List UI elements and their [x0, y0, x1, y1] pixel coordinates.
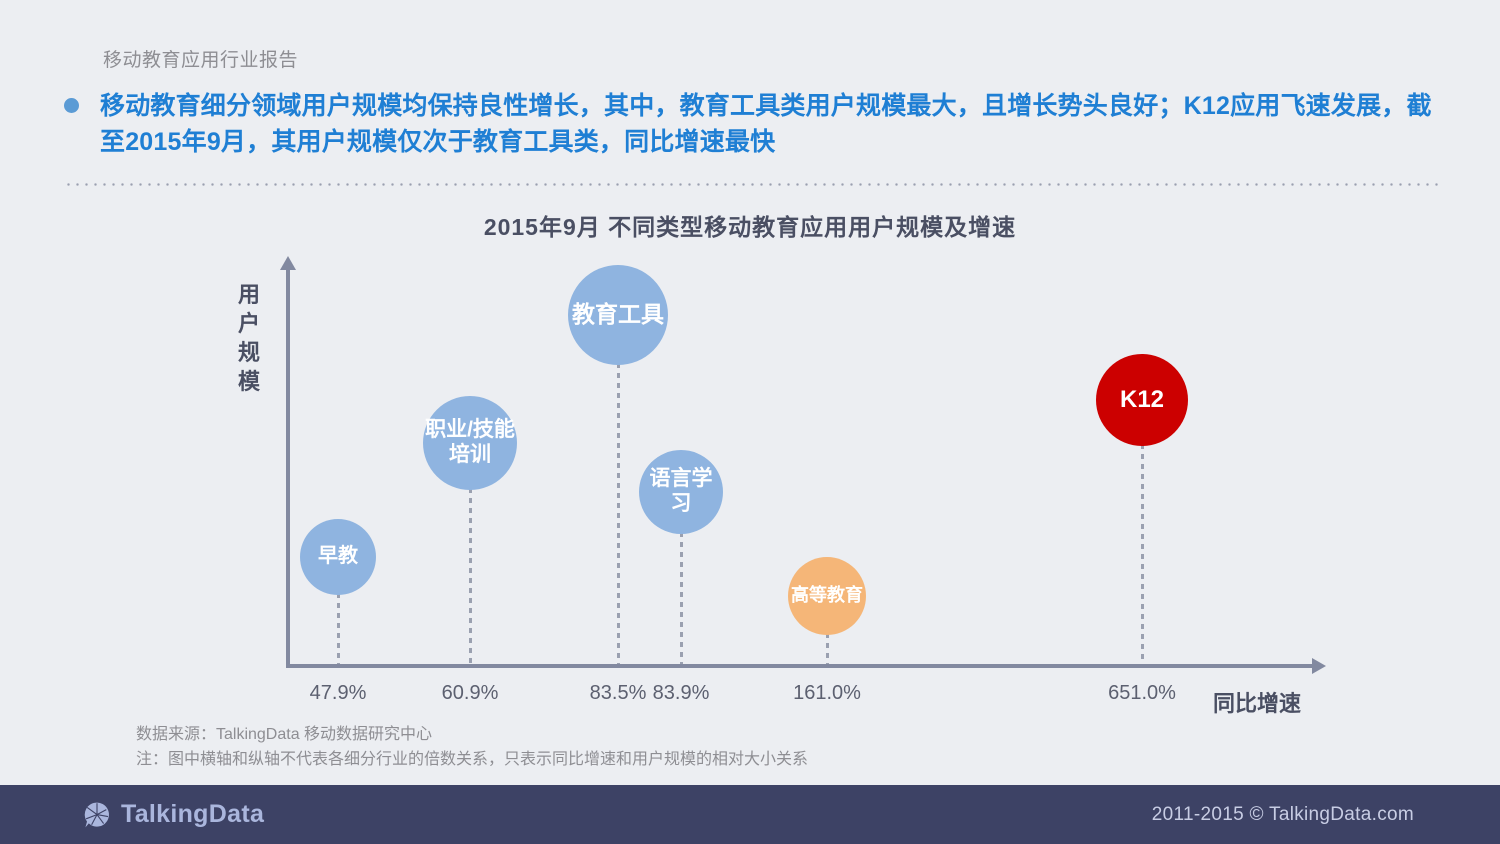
headline-row: 移动教育细分领域用户规模均保持良性增长，其中，教育工具类用户规模最大，且增长势头… — [64, 88, 1444, 161]
y-axis-line — [286, 268, 290, 666]
bubble-stem — [337, 593, 340, 664]
bubble-语言学习[interactable]: 语言学习 — [639, 450, 723, 534]
y-axis-label: 用 户 规 模 — [234, 280, 264, 396]
bubble-stem — [1141, 444, 1144, 664]
x-tick-label: 83.5% — [590, 682, 647, 705]
x-tick-label: 161.0% — [793, 682, 861, 705]
bubble-label: 职业/技能培训 — [423, 418, 517, 468]
bubble-stem — [680, 532, 683, 664]
y-axis-arrow-icon — [280, 256, 296, 270]
bubble-教育工具[interactable]: 教育工具 — [568, 265, 668, 365]
y-axis-label-char-1: 户 — [234, 309, 264, 338]
bubble-早教[interactable]: 早教 — [300, 519, 376, 595]
y-axis-label-char-3: 模 — [234, 367, 264, 396]
x-tick-label: 83.9% — [653, 682, 710, 705]
footer-brand-group: TalkingData — [82, 800, 264, 830]
data-source-note: 数据来源：TalkingData 移动数据研究中心 — [136, 723, 808, 748]
header-divider — [64, 183, 1440, 186]
talkingdata-logo-icon — [82, 800, 112, 830]
footer-copyright: 2011-2015 © TalkingData.com — [1152, 804, 1414, 826]
bubble-stem — [826, 633, 829, 664]
bullet-dot-icon — [64, 98, 79, 113]
x-tick-label: 60.9% — [442, 682, 499, 705]
x-tick-label: 651.0% — [1108, 682, 1176, 705]
x-axis-line — [286, 664, 1314, 668]
y-axis-label-char-2: 规 — [234, 338, 264, 367]
chart-notes: 数据来源：TalkingData 移动数据研究中心 注：图中横轴和纵轴不代表各细… — [136, 723, 808, 773]
report-kicker: 移动教育应用行业报告 — [103, 45, 298, 72]
bubble-label: 教育工具 — [570, 301, 666, 328]
bubble-K12[interactable]: K12 — [1096, 354, 1188, 446]
bubble-高等教育[interactable]: 高等教育 — [788, 557, 866, 635]
footer-brand-name: TalkingData — [121, 800, 264, 829]
footer-bar: TalkingData 2011-2015 © TalkingData.com — [0, 785, 1500, 844]
bubble-label: 早教 — [316, 545, 360, 569]
bubble-stem — [469, 488, 472, 664]
x-tick-label: 47.9% — [310, 682, 367, 705]
page-headline: 移动教育细分领域用户规模均保持良性增长，其中，教育工具类用户规模最大，且增长势头… — [100, 88, 1444, 161]
bubble-label: 高等教育 — [789, 585, 865, 606]
bubble-职业/技能培训[interactable]: 职业/技能培训 — [423, 396, 517, 490]
bubble-stem — [617, 363, 620, 664]
slide-root: 移动教育应用行业报告 移动教育细分领域用户规模均保持良性增长，其中，教育工具类用… — [0, 0, 1500, 844]
y-axis-label-char-0: 用 — [234, 280, 264, 309]
x-axis-arrow-icon — [1312, 658, 1326, 674]
chart-disclaimer-note: 注：图中横轴和纵轴不代表各细分行业的倍数关系，只表示同比增速和用户规模的相对大小… — [136, 748, 808, 773]
bubble-label: K12 — [1118, 386, 1166, 414]
x-axis-label: 同比增速 — [1213, 686, 1301, 718]
bubble-label: 语言学习 — [639, 467, 723, 517]
chart-title: 2015年9月 不同类型移动教育应用用户规模及增速 — [0, 208, 1500, 242]
